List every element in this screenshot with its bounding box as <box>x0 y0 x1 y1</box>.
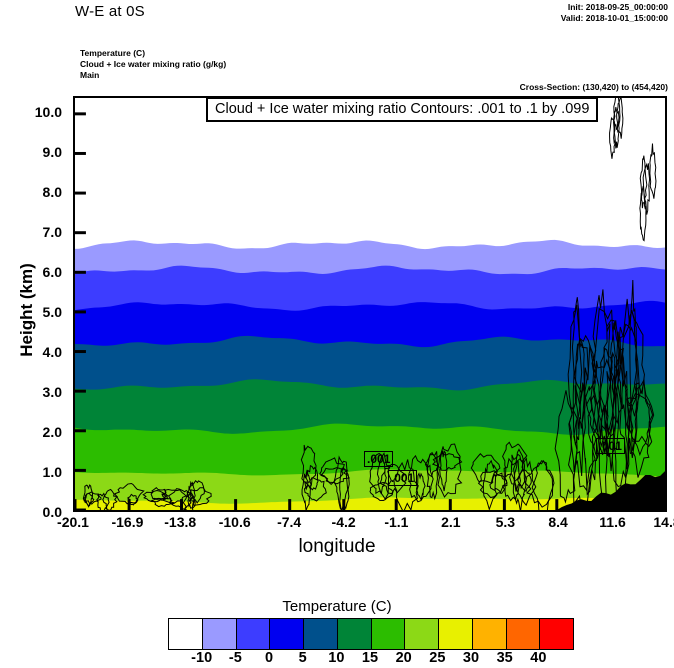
colorbar-swatch <box>304 619 338 649</box>
y-axis-tick-label: 2.0 <box>10 424 62 440</box>
colorbar-title: Temperature (C) <box>0 598 674 615</box>
inline-contour-label: .001 <box>364 451 393 467</box>
colorbar-swatch <box>540 619 573 649</box>
cross-section-plot <box>73 96 667 512</box>
temperature-fill-bands <box>75 240 665 510</box>
contour-interval-label: Cloud + Ice water mixing ratio Contours:… <box>206 97 598 122</box>
y-axis-tick-label: 9.0 <box>10 144 62 160</box>
x-axis-tick-label: -16.9 <box>97 514 157 530</box>
y-axis-tick-label: 3.0 <box>10 384 62 400</box>
y-axis-tick-label: 1.0 <box>10 464 62 480</box>
y-axis-tick-label: 10.0 <box>10 104 62 120</box>
colorbar-swatch <box>405 619 439 649</box>
colorbar-tick-labels: -10-50510152025303540 <box>168 650 574 668</box>
field-line-temperature: Temperature (C) <box>80 48 226 59</box>
colorbar-swatch <box>372 619 406 649</box>
colorbar-strip <box>168 618 574 650</box>
x-axis-tick-label: 11.6 <box>583 514 643 530</box>
x-axis-tick-label: -20.1 <box>43 514 103 530</box>
colorbar-swatch <box>473 619 507 649</box>
colorbar-tick-label: 40 <box>518 650 558 666</box>
x-axis-tick-label: -10.6 <box>205 514 265 530</box>
x-axis-tick-label: -4.2 <box>314 514 374 530</box>
colorbar-swatch <box>507 619 541 649</box>
y-axis-tick-label: 7.0 <box>10 224 62 240</box>
colorbar-swatch <box>270 619 304 649</box>
colorbar-swatch <box>203 619 237 649</box>
cross-section-endpoints-label: Cross-Section: (130,420) to (454,420) <box>520 82 668 92</box>
x-axis-tick-label: -1.1 <box>366 514 426 530</box>
x-axis-tick-label: 8.4 <box>528 514 588 530</box>
field-line-domain: Main <box>80 70 226 81</box>
cloud-contour <box>650 144 656 199</box>
x-axis-tick-label: -13.8 <box>150 514 210 530</box>
x-axis-title: longitude <box>0 536 674 558</box>
cloud-contour <box>610 118 616 159</box>
cloud-contour <box>640 186 646 241</box>
cloud-contour <box>643 163 649 214</box>
y-axis-tick-label: 8.0 <box>10 184 62 200</box>
inline-contour-label: .001 <box>596 438 625 454</box>
colorbar-swatch <box>338 619 372 649</box>
inline-contour-label: .001 <box>388 470 417 486</box>
x-axis-tick-label: 5.3 <box>475 514 535 530</box>
x-axis-tick-label: 14.8 <box>637 514 674 530</box>
init-time-label: Init: 2018-09-25_00:00:00 <box>568 2 668 12</box>
colorbar-swatch <box>237 619 271 649</box>
colorbar-swatch <box>169 619 203 649</box>
x-axis-tick-label: 2.1 <box>421 514 481 530</box>
plot-canvas <box>75 98 665 510</box>
valid-time-label: Valid: 2018-10-01_15:00:00 <box>561 13 668 23</box>
field-line-mixing-ratio: Cloud + Ice water mixing ratio (g/kg) <box>80 59 226 70</box>
x-axis-tick-label: -7.4 <box>259 514 319 530</box>
field-description-block: Temperature (C) Cloud + Ice water mixing… <box>80 48 226 81</box>
y-axis-title: Height (km) <box>17 250 37 370</box>
colorbar-swatch <box>439 619 473 649</box>
page-title: W-E at 0S <box>75 3 145 20</box>
